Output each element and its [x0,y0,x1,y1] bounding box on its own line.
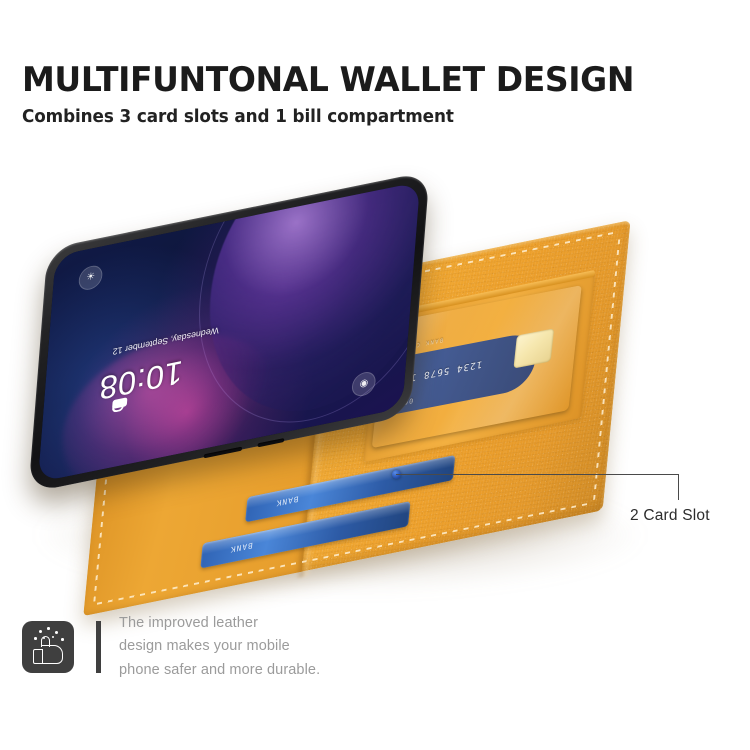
feature-description: The improved leather design makes your m… [119,612,320,682]
callout-leader-line-horizontal [396,474,679,475]
feature-text-line-3: phone safer and more durable. [119,659,320,682]
sparkle-dot [61,638,64,641]
sparkle-dot [55,631,58,634]
sparkle-dot [39,630,42,633]
feature-text-line-1: The improved leather [119,612,320,635]
thumbs-up-sparkle-icon [22,621,74,673]
callout-label: 2 Card Slot [630,507,710,525]
sparkle-dot [47,627,50,630]
thumbs-up-glyph [33,645,63,664]
feature-footer: The improved leather design makes your m… [22,612,320,682]
callout-leader-line-vertical [678,474,679,500]
vertical-divider [96,621,101,673]
sparkle-dot [34,637,37,640]
feature-text-line-2: design makes your mobile [119,635,320,658]
thumb-palm [42,645,63,664]
sparkle-dot [52,636,54,638]
